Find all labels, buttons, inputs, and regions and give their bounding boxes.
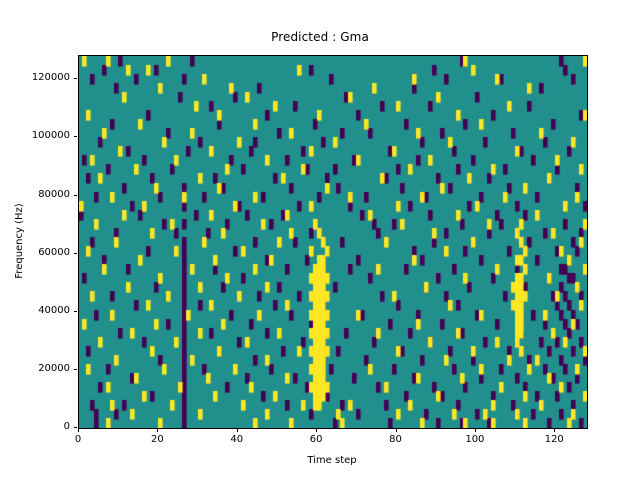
y-tick-mark <box>74 195 78 196</box>
heatmap-plot-area[interactable] <box>78 55 588 429</box>
y-axis-label: Frequency (Hz) <box>14 55 28 427</box>
x-axis-label: Time step <box>78 455 586 466</box>
y-tick-mark <box>74 427 78 428</box>
x-tick-label: 40 <box>217 435 257 445</box>
y-tick-mark <box>74 78 78 79</box>
x-tick-label: 0 <box>58 435 98 445</box>
x-tick-label: 20 <box>137 435 177 445</box>
x-tick-label: 100 <box>455 435 495 445</box>
chart-title: Predicted : Gma <box>0 30 640 44</box>
figure-canvas: Predicted : Gma 020406080100120020000400… <box>0 0 640 480</box>
heatmap-cells <box>79 56 587 428</box>
y-tick-mark <box>74 253 78 254</box>
y-tick-mark <box>74 369 78 370</box>
y-tick-mark <box>74 311 78 312</box>
x-tick-label: 60 <box>296 435 336 445</box>
x-tick-label: 80 <box>376 435 416 445</box>
y-tick-mark <box>74 136 78 137</box>
x-tick-label: 120 <box>534 435 574 445</box>
